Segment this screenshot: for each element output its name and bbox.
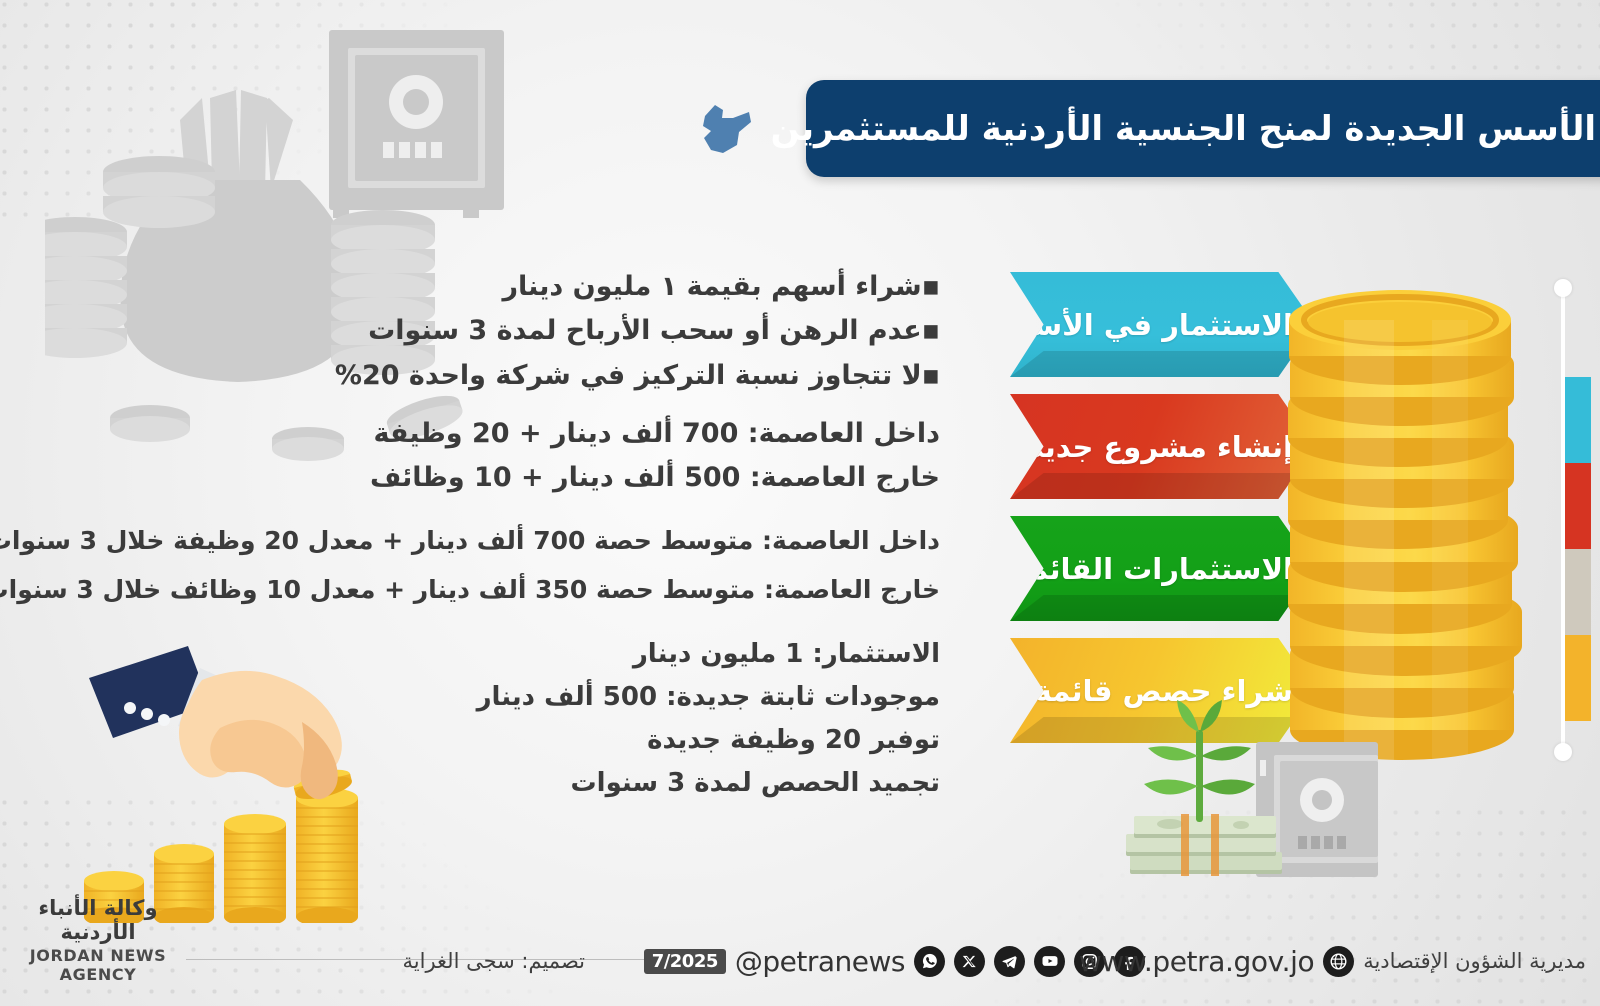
content-line: خارج العاصمة: 500 ألف دينار + 10 وظائف [370,459,940,503]
content-line: داخل العاصمة: متوسط حصة 700 ألف دينار + … [0,523,940,572]
globe-icon[interactable] [1323,946,1354,977]
designer-credit-group: تصميم: سجى الغراية [403,949,585,973]
content-block-buy-existing-shares: الاستثمار: 1 مليون دينار موجودات ثابتة ج… [477,636,940,808]
category-banner-existing-investments[interactable]: الاستثمارات القائمة [1010,516,1315,621]
whatsapp-icon[interactable] [914,946,945,977]
rail-knob-bottom [1554,743,1572,761]
category-label: الاستثمار في الأسهم [992,308,1293,342]
content-line: موجودات ثابتة جديدة: 500 ألف دينار [477,679,940,722]
department-name: مديرية الشؤون الإقتصادية [1363,949,1586,973]
rail-segment-3 [1565,549,1591,635]
x-twitter-icon[interactable] [954,946,985,977]
department-and-website-group: مديرية الشؤون الإقتصادية www.petra.gov.j… [1079,945,1586,978]
content-line: توفير 20 وظيفة جديدة [477,722,940,765]
content-line: ▪لا تتجاوز نسبة التركيز في شركة واحدة 20… [335,357,940,401]
jordan-map-icon [693,98,753,160]
category-banner-new-project[interactable]: إنشاء مشروع جديد [1010,394,1315,499]
rail-segment-2 [1565,463,1591,549]
content-block-new-project: داخل العاصمة: 700 ألف دينار + 20 وظيفة خ… [370,415,940,504]
content-line: ▪شراء أسهم بقيمة ١ مليون دينار [335,268,940,312]
growth-plant-and-safe-illustration [1108,700,1378,900]
content-line: داخل العاصمة: 700 ألف دينار + 20 وظيفة [370,415,940,459]
content-line: الاستثمار: 1 مليون دينار [477,636,940,679]
designer-credit: تصميم: سجى الغراية [403,949,585,973]
telegram-icon[interactable] [994,946,1025,977]
rail-segment-4 [1565,635,1591,721]
content-block-investment-in-shares: ▪شراء أسهم بقيمة ١ مليون دينار ▪عدم الره… [335,268,940,401]
infographic-canvas: الأسس الجديدة لمنح الجنسية الأردنية للمس… [0,0,1600,1006]
hand-placing-coin-illustration [70,608,400,923]
dot-pattern-top-left [0,0,464,224]
content-block-existing-investments: داخل العاصمة: متوسط حصة 700 ألف دينار + … [0,523,940,620]
content-line: تجميد الحصص لمدة 3 سنوات [477,765,940,808]
social-handle[interactable]: @petranews [735,945,905,978]
category-label: الاستثمارات القائمة [1013,552,1293,586]
rail-knob-top [1554,279,1572,297]
money-bag-watermark-illustration [45,20,505,470]
date-badge: 7/2025 [644,949,726,974]
footer-bar: تصميم: سجى الغراية [0,940,1600,982]
rail-segment-1 [1565,377,1591,463]
youtube-icon[interactable] [1034,946,1065,977]
category-banner-investment-in-shares[interactable]: الاستثمار في الأسهم [1010,272,1315,377]
color-rail [1548,285,1578,755]
agency-name-arabic: وكالة الأنباء الأردنية [0,896,196,944]
footer: وكالة الأنباء الأردنية JORDAN NEWS AGENC… [0,910,1600,1006]
page-title-bar: الأسس الجديدة لمنح الجنسية الأردنية للمس… [806,80,1600,177]
website-url[interactable]: www.petra.gov.jo [1079,945,1314,978]
social-and-handle-group: @petranews 7/2025 [644,945,1145,978]
category-label: إنشاء مشروع جديد [1028,430,1293,464]
content-line: ▪عدم الرهن أو سحب الأرباح لمدة 3 سنوات [335,312,940,356]
page-title: الأسس الجديدة لمنح الجنسية الأردنية للمس… [771,109,1596,149]
